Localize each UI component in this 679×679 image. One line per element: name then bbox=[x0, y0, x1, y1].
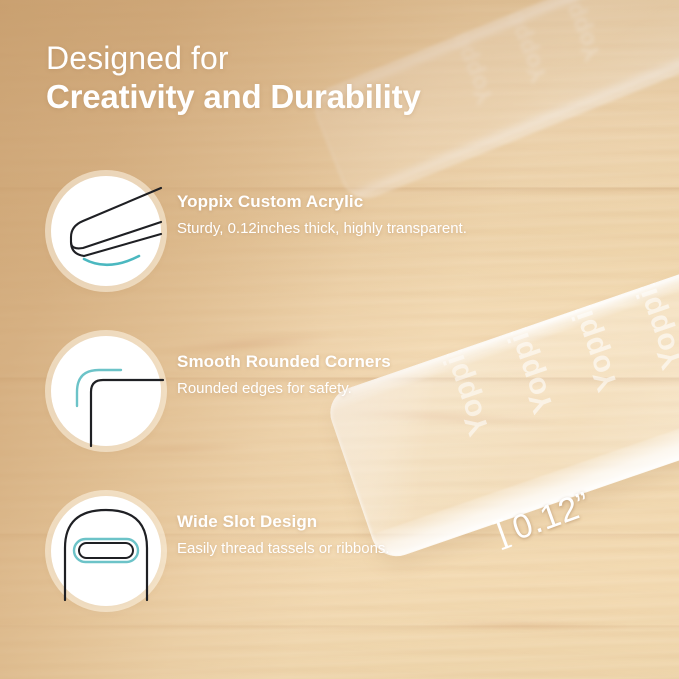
feature-icon-badge bbox=[51, 496, 161, 606]
page-title: Designed for Creativity and Durability bbox=[46, 40, 421, 117]
feature-icon-badge bbox=[51, 176, 161, 286]
feature-description: Rounded edges for safety. bbox=[177, 379, 467, 399]
feature-text: Smooth Rounded Corners Rounded edges for… bbox=[177, 352, 467, 399]
content-layer: Designed for Creativity and Durability bbox=[0, 0, 679, 679]
feature-item-slot: Wide Slot Design Easily thread tassels o… bbox=[46, 490, 466, 650]
feature-text: Yoppix Custom Acrylic Sturdy, 0.12inches… bbox=[177, 192, 467, 239]
feature-title: Wide Slot Design bbox=[177, 512, 467, 532]
feature-list: Yoppix Custom Acrylic Sturdy, 0.12inches… bbox=[46, 170, 466, 650]
feature-text: Wide Slot Design Easily thread tassels o… bbox=[177, 512, 467, 559]
product-feature-graphic: Yoppix Yoppix Yoppix Yoppix Yoppix Yoppi… bbox=[0, 0, 679, 679]
headline-line-1: Designed for bbox=[46, 40, 421, 78]
feature-description: Easily thread tassels or ribbons. bbox=[177, 539, 467, 559]
slot-tag-icon bbox=[51, 496, 161, 606]
feature-icon-badge bbox=[51, 336, 161, 446]
feature-title: Yoppix Custom Acrylic bbox=[177, 192, 467, 212]
feature-title: Smooth Rounded Corners bbox=[177, 352, 467, 372]
headline-line-2: Creativity and Durability bbox=[46, 78, 421, 117]
feature-item-corners: Smooth Rounded Corners Rounded edges for… bbox=[46, 330, 466, 490]
acrylic-sheet-edge-icon bbox=[51, 176, 161, 286]
feature-description: Sturdy, 0.12inches thick, highly transpa… bbox=[177, 219, 467, 239]
feature-item-acrylic: Yoppix Custom Acrylic Sturdy, 0.12inches… bbox=[46, 170, 466, 330]
rounded-corner-icon bbox=[51, 336, 161, 446]
